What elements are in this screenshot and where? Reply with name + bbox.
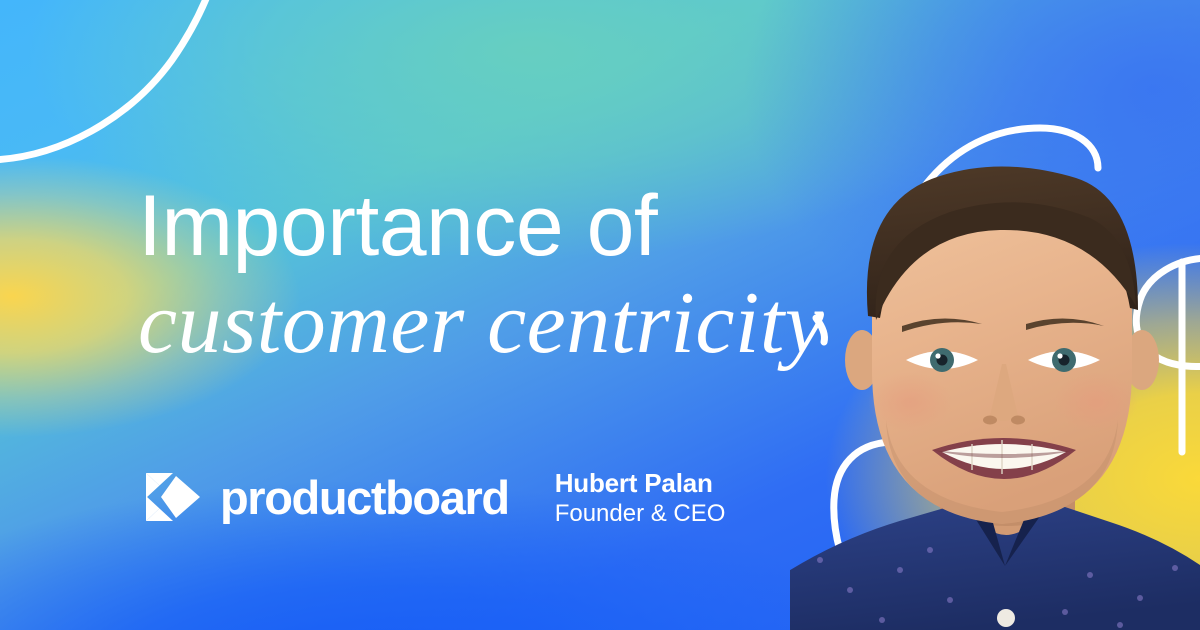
- nostril-right: [1011, 416, 1025, 425]
- nostril-left: [983, 416, 997, 425]
- productboard-logo-mark-icon: [146, 473, 200, 521]
- footer-bar: productboard Hubert Palan Founder & CEO: [146, 462, 725, 532]
- headline-line-1: Importance of: [138, 178, 858, 274]
- webinar-promo-card: Importance of customer centricity produc…: [0, 0, 1200, 630]
- headline-line-2: customer centricity: [138, 276, 858, 372]
- speaker-block: Hubert Palan Founder & CEO: [555, 465, 726, 529]
- speaker-name: Hubert Palan: [555, 467, 726, 499]
- cheek-left: [868, 372, 952, 432]
- headline: Importance of customer centricity: [138, 178, 858, 372]
- shirt-button: [997, 609, 1015, 627]
- productboard-wordmark: productboard: [220, 474, 509, 521]
- cheek-right: [1054, 372, 1138, 432]
- productboard-logo[interactable]: productboard: [146, 471, 509, 523]
- speaker-role: Founder & CEO: [555, 499, 726, 529]
